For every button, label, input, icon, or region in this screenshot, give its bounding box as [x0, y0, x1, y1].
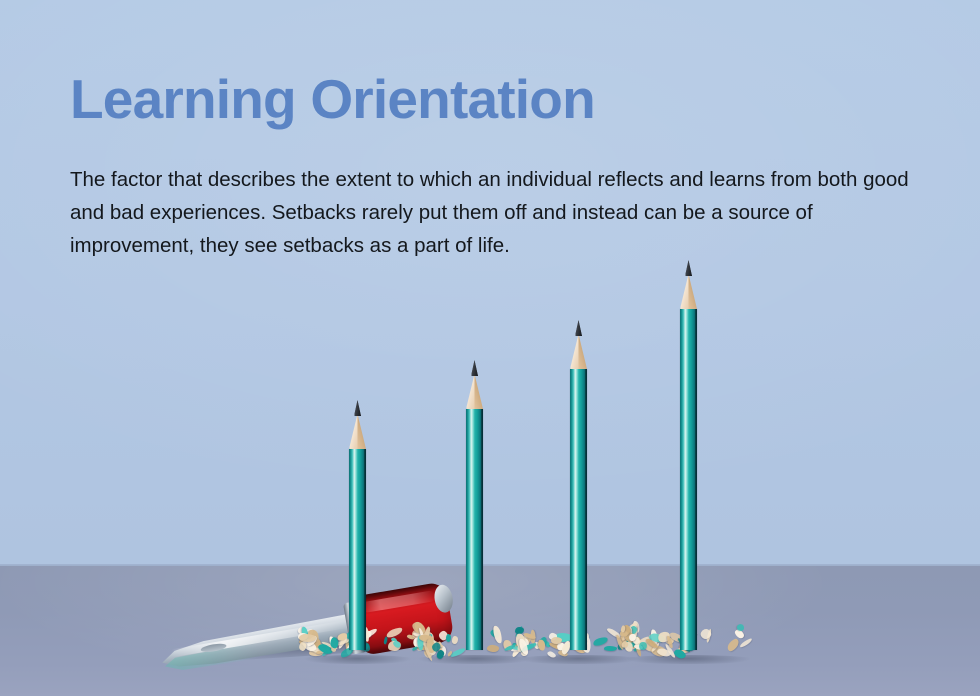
- page-title: Learning Orientation: [70, 70, 595, 129]
- body-paragraph: The factor that describes the extent to …: [70, 163, 910, 262]
- text-layer: Learning Orientation The factor that des…: [0, 0, 980, 566]
- table-sheen: [0, 566, 980, 696]
- slide-canvas: Learning Orientation The factor that des…: [0, 0, 980, 696]
